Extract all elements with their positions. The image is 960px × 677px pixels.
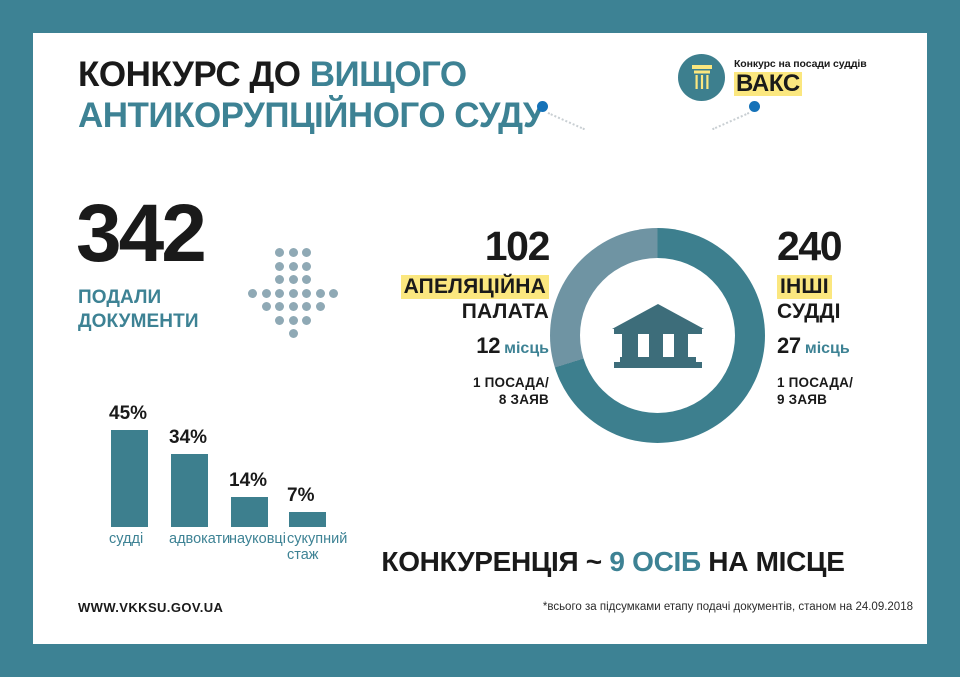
- applicants-label: ПОДАЛИ ДОКУМЕНТИ: [78, 286, 199, 335]
- arrow-dot: [275, 316, 284, 325]
- arrow-dot: [262, 302, 271, 311]
- logo-tagline: Конкурс на посади суддів: [734, 59, 867, 70]
- other-ratio: 1 ПОСАДА/ 9 ЗАЯВ: [777, 374, 957, 408]
- arrow-dot: [302, 316, 311, 325]
- stat-block-appeal-chamber: 102 АПЕЛЯЦІЙНА ПАЛАТА 12місць 1 ПОСАДА/ …: [369, 226, 549, 408]
- arrow-dot: [275, 289, 284, 298]
- other-seats: 27місць: [777, 335, 957, 357]
- competition-headline: КОНКУРЕНЦІЯ ~ 9 ОСІБ НА МІСЦЕ: [313, 546, 913, 578]
- appeal-ratio-line1: 1 ПОСАДА/: [473, 375, 549, 390]
- donut-ring: [550, 228, 765, 443]
- arrow-dot: [302, 248, 311, 257]
- headline-black-2: НА МІСЦЕ: [701, 546, 845, 577]
- bar-value-label-0: 45%: [109, 403, 147, 425]
- arrow-dot: [289, 302, 298, 311]
- appeal-seats-word: місць: [504, 340, 549, 357]
- arrow-dot: [302, 289, 311, 298]
- category-bar-chart: 45%суддi34%адвокати14%науковці7%сукупний…: [53, 363, 393, 573]
- headline-black-1: КОНКУРЕНЦІЯ ~: [381, 546, 609, 577]
- connector-dot-right: [749, 101, 760, 112]
- other-seats-word: місць: [805, 340, 850, 357]
- other-seats-number: 27: [777, 333, 801, 358]
- title-part-teal-1: ВИЩОГО: [310, 55, 467, 94]
- bar-0: [111, 430, 148, 527]
- logo-circle: [678, 54, 725, 101]
- appeal-second-label: ПАЛАТА: [369, 300, 549, 324]
- stat-block-other-judges: 240 ІНШІ СУДДІ 27місць 1 ПОСАДА/ 9 ЗАЯВ: [777, 226, 957, 408]
- appeal-applications-count: 102: [369, 226, 549, 267]
- arrow-dot: [262, 289, 271, 298]
- arrow-dot: [289, 275, 298, 284]
- footnote: *всього за підсумками етапу подачі докум…: [413, 601, 913, 613]
- arrow-dot: [289, 289, 298, 298]
- headline-teal: 9 ОСІБ: [609, 546, 700, 577]
- bar-2: [231, 497, 268, 527]
- arrow-dot: [329, 289, 338, 298]
- arrow-dot: [275, 302, 284, 311]
- bar-group: 45%суддi: [111, 429, 148, 527]
- bar-1: [171, 454, 208, 527]
- appeal-ratio: 1 ПОСАДА/ 8 ЗАЯВ: [369, 374, 549, 408]
- bar-group: 14%науковці: [231, 496, 268, 527]
- bank-courthouse-icon: [610, 303, 706, 369]
- bar-group: 34%адвокати: [171, 453, 208, 527]
- other-ratio-line2: 9 ЗАЯВ: [777, 392, 827, 407]
- arrow-dot: [289, 248, 298, 257]
- column-icon: [690, 63, 714, 93]
- connector-line-right: [712, 112, 749, 130]
- infographic-poster: КОНКУРС ДО ВИЩОГО АНТИКОРУПЦІЙНОГО СУДУ …: [0, 0, 960, 677]
- arrow-dot: [275, 275, 284, 284]
- dotted-down-arrow-icon: [248, 248, 334, 346]
- vaks-logo[interactable]: Конкурс на посади суддів ВАКС: [678, 54, 867, 101]
- arrow-dot: [302, 302, 311, 311]
- arrow-dot: [275, 262, 284, 271]
- arrow-dot: [316, 289, 325, 298]
- arrow-dot: [289, 262, 298, 271]
- arrow-dot: [248, 289, 257, 298]
- logo-text: Конкурс на посади суддів ВАКС: [734, 59, 867, 97]
- bar-3: [289, 512, 326, 527]
- title-part-black: КОНКУРС ДО: [78, 55, 310, 94]
- arrow-dot: [275, 248, 284, 257]
- title-part-teal-2: АНТИКОРУПЦІЙНОГО СУДУ: [78, 96, 544, 135]
- arrow-dot: [289, 316, 298, 325]
- bar-group: 7%сукупний стаж: [289, 511, 326, 527]
- website-url[interactable]: WWW.VKKSU.GOV.UA: [78, 600, 223, 615]
- bar-value-label-2: 14%: [229, 470, 267, 492]
- appeal-ratio-line2: 8 ЗАЯВ: [499, 392, 549, 407]
- arrow-dot: [316, 302, 325, 311]
- other-ratio-line1: 1 ПОСАДА/: [777, 375, 853, 390]
- other-applications-count: 240: [777, 226, 957, 267]
- applicants-count: 342: [76, 193, 204, 275]
- logo-name: ВАКС: [734, 72, 802, 96]
- appeal-seats-number: 12: [476, 333, 500, 358]
- applicants-label-line1: ПОДАЛИ: [78, 287, 161, 308]
- bar-value-label-3: 7%: [287, 485, 314, 507]
- appeal-seats: 12місць: [369, 335, 549, 357]
- arrow-dot: [289, 329, 298, 338]
- arrow-dot: [302, 262, 311, 271]
- bar-value-label-1: 34%: [169, 427, 207, 449]
- applicants-label-line2: ДОКУМЕНТИ: [78, 311, 199, 332]
- other-second-label: СУДДІ: [777, 300, 957, 324]
- applications-donut-chart: [550, 228, 765, 443]
- connector-dot-left: [537, 101, 548, 112]
- content-panel: КОНКУРС ДО ВИЩОГО АНТИКОРУПЦІЙНОГО СУДУ …: [33, 33, 927, 644]
- other-highlight-label: ІНШІ: [777, 275, 832, 299]
- appeal-highlight-label: АПЕЛЯЦІЙНА: [401, 275, 549, 299]
- page-title: КОНКУРС ДО ВИЩОГО АНТИКОРУПЦІЙНОГО СУДУ: [78, 55, 638, 137]
- arrow-dot: [302, 275, 311, 284]
